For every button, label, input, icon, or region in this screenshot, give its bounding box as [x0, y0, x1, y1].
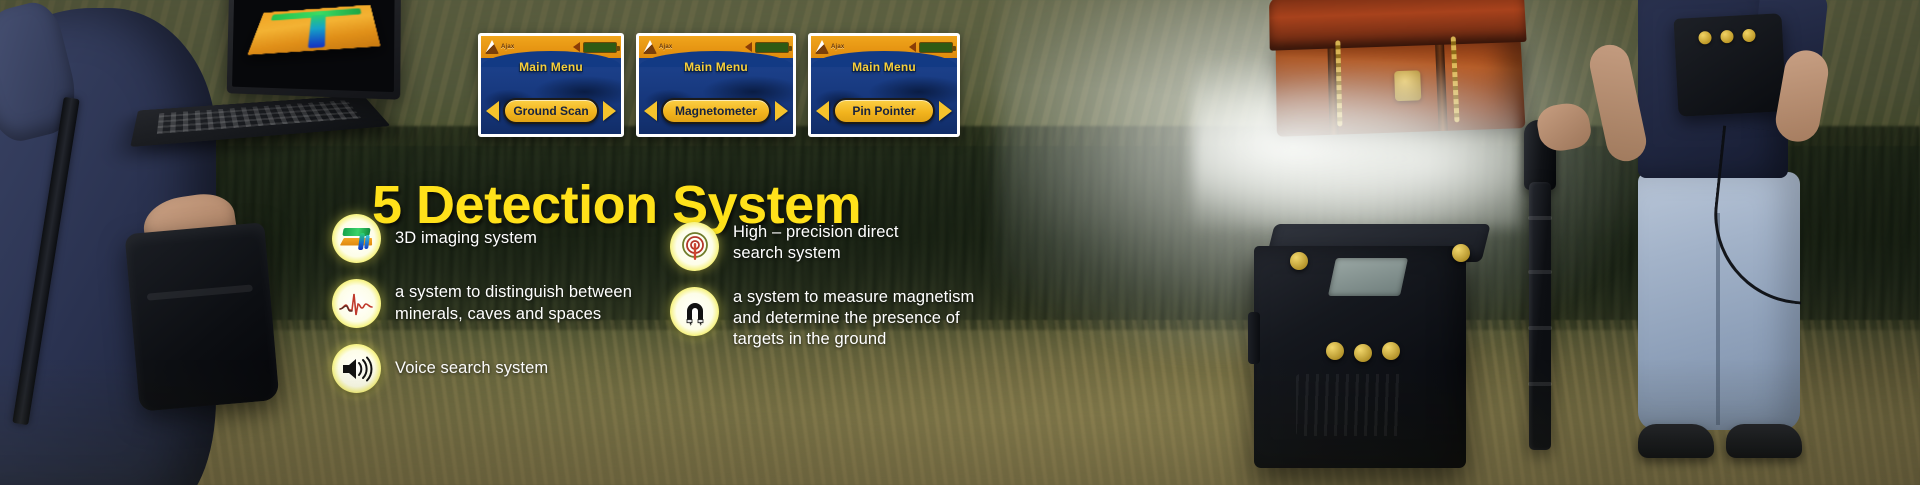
unit-display-screen: [1328, 258, 1408, 296]
panel-status-bar: Ajax: [811, 36, 957, 58]
probe-ring: [1528, 270, 1552, 274]
feature-text: High – precision direct search system: [733, 222, 899, 264]
speaker-glyph: [341, 356, 373, 382]
feature-line-2: search system: [733, 243, 899, 264]
brand-logo: Ajax: [485, 40, 514, 54]
probe-shaft: [1529, 182, 1551, 450]
handheld-knob: [1720, 30, 1734, 44]
laptop-keyboard: [157, 100, 361, 134]
waveform-glyph: [339, 291, 375, 317]
feature-line-2: and determine the presence of: [733, 308, 974, 329]
panel-status-icons: [573, 42, 617, 53]
logo-mark-icon: [815, 40, 829, 54]
left-operator-photo: [0, 0, 294, 485]
feature-magnetism: a system to measure magnetism and determ…: [670, 287, 1030, 350]
feature-line-1: a system to distinguish between: [395, 282, 632, 303]
right-scene-photo: [1220, 0, 1920, 485]
probe-ring: [1528, 326, 1552, 330]
feature-list: 3D imaging system a system to distinguis…: [332, 214, 1032, 394]
unit-knob: [1326, 342, 1344, 360]
handheld-knob: [1698, 31, 1712, 45]
mode-label-ground-scan[interactable]: Ground Scan: [503, 98, 599, 124]
feature-line-1: a system to measure magnetism: [733, 287, 974, 308]
chest-lid: [1269, 0, 1527, 51]
unit-vent: [1296, 374, 1404, 436]
smoke-effect: [1192, 58, 1522, 228]
right-operator-photo: [1580, 0, 1870, 485]
laptop-device: [136, 0, 388, 162]
main-control-unit: [1254, 222, 1498, 472]
operator-handheld-unit: [1674, 13, 1787, 117]
chevron-right-icon[interactable]: [775, 101, 788, 121]
device-panel-magnetometer[interactable]: Ajax Main Menu Magnetometer: [636, 33, 796, 137]
speaker-sound-icon: [332, 344, 381, 393]
feature-voice-search: Voice search system: [332, 344, 662, 393]
operator-shoe: [1638, 424, 1714, 458]
chevron-left-icon[interactable]: [816, 101, 829, 121]
feature-line-3: targets in the ground: [733, 329, 974, 350]
panel-menu-title: Main Menu: [811, 60, 957, 74]
probe-ring: [1528, 216, 1552, 220]
feature-column-right: High – precision direct search system a …: [670, 214, 1030, 366]
logo-text: Ajax: [501, 44, 514, 50]
speaker-icon: [909, 42, 916, 52]
battery-full-icon: [755, 42, 789, 53]
unit-knob: [1382, 342, 1400, 360]
pin-pointer-probe: [1520, 120, 1560, 450]
panel-mode-selector[interactable]: Ground Scan: [486, 98, 616, 124]
logo-text: Ajax: [831, 44, 844, 50]
battery-full-icon: [919, 42, 953, 53]
chevron-left-icon[interactable]: [644, 101, 657, 121]
product-banner: Ajax Main Menu Ground Scan: [0, 0, 1920, 485]
operator-equipment-bag: [125, 222, 280, 412]
feature-text: 3D imaging system: [395, 228, 537, 249]
speaker-icon: [745, 42, 752, 52]
feature-line-1: 3D imaging system: [395, 228, 537, 249]
feature-line-1: Voice search system: [395, 358, 548, 379]
panel-status-icons: [745, 42, 789, 53]
feature-text: Voice search system: [395, 358, 548, 379]
magnet-icon: [670, 287, 719, 336]
panel-menu-title: Main Menu: [639, 60, 793, 74]
radio-signal-glyph: [680, 232, 710, 262]
laptop-base: [130, 95, 390, 147]
mode-label-magnetometer[interactable]: Magnetometer: [661, 98, 771, 124]
waveform-icon: [332, 279, 381, 328]
feature-mineral-discrimination: a system to distinguish between minerals…: [332, 279, 662, 328]
unit-top-knob: [1290, 252, 1308, 270]
feature-line-1: High – precision direct: [733, 222, 899, 243]
brand-logo: Ajax: [643, 40, 672, 54]
scan-anomaly-blue: [308, 14, 326, 48]
panel-mode-selector[interactable]: Magnetometer: [644, 98, 788, 124]
device-panel-pin-pointer[interactable]: Ajax Main Menu Pin Pointer: [808, 33, 960, 137]
panel-status-icons: [909, 42, 953, 53]
3d-scan-visualization: [247, 5, 380, 55]
feature-text: a system to distinguish between minerals…: [395, 282, 632, 324]
mode-label-pin-pointer[interactable]: Pin Pointer: [833, 98, 935, 124]
chevron-right-icon[interactable]: [939, 101, 952, 121]
speaker-icon: [573, 42, 580, 52]
panel-status-bar: Ajax: [639, 36, 793, 58]
feature-3d-imaging: 3D imaging system: [332, 214, 662, 263]
feature-column-left: 3D imaging system a system to distinguis…: [332, 214, 662, 409]
panel-mode-selector[interactable]: Pin Pointer: [816, 98, 952, 124]
magnet-glyph: [681, 298, 709, 326]
device-panel-ground-scan[interactable]: Ajax Main Menu Ground Scan: [478, 33, 624, 137]
feature-high-precision: High – precision direct search system: [670, 222, 1030, 271]
device-screen-panels: Ajax Main Menu Ground Scan: [478, 33, 968, 137]
probe-ring: [1528, 382, 1552, 386]
chevron-left-icon[interactable]: [486, 101, 499, 121]
panel-menu-title: Main Menu: [481, 60, 621, 74]
unit-side-handle: [1248, 312, 1260, 364]
feature-line-2: minerals, caves and spaces: [395, 304, 632, 325]
chevron-right-icon[interactable]: [603, 101, 616, 121]
logo-mark-icon: [643, 40, 657, 54]
laptop-screen: [232, 0, 395, 92]
battery-full-icon: [583, 42, 617, 53]
3d-terrain-icon: [332, 214, 381, 263]
handheld-knob: [1742, 29, 1756, 43]
unit-knob: [1354, 344, 1372, 362]
radio-signal-icon: [670, 222, 719, 271]
unit-top-knob: [1452, 244, 1470, 262]
brand-logo: Ajax: [815, 40, 844, 54]
logo-mark-icon: [485, 40, 499, 54]
logo-text: Ajax: [659, 44, 672, 50]
operator-shoe: [1726, 424, 1802, 458]
feature-text: a system to measure magnetism and determ…: [733, 287, 974, 350]
laptop-lid: [227, 0, 401, 100]
panel-status-bar: Ajax: [481, 36, 621, 58]
